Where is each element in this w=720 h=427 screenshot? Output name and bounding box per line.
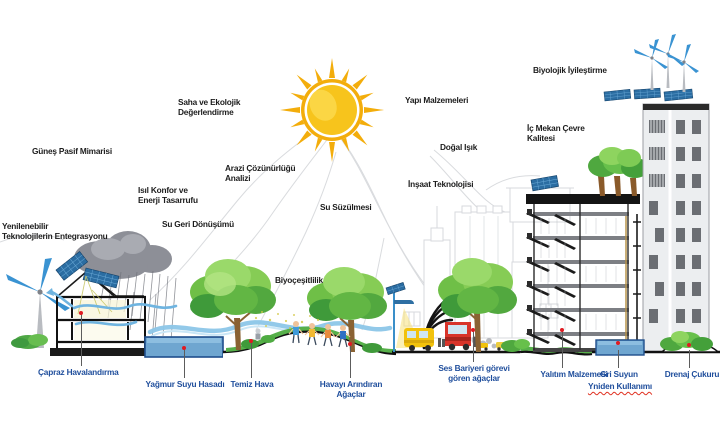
label-su-geri-donusumu: Su Geri Dönüşümü <box>162 220 274 230</box>
marker-gri-suyun <box>616 341 620 345</box>
leader-drenaj-cukuru <box>689 350 690 368</box>
leader-yagmur-suyu-hasadi <box>184 348 185 378</box>
marker-ses-bariyeri <box>471 328 475 332</box>
label-insaat-teknolojisi: İnşaat Teknolojisi <box>408 180 508 190</box>
greywater-tank <box>596 340 644 355</box>
marker-drenaj-cukuru <box>687 343 691 347</box>
label-su-suzulmesi: Su Süzülmesi <box>320 203 402 213</box>
label-havayi-arindiran-agaclar: Havayı Arındıran Ağaçlar <box>300 380 402 399</box>
label-ses-bariyeri-goren-agaclar: Ses Bariyeri görevi gören ağaçlar <box>419 364 529 383</box>
leader-havayi-arindiran-agaclar <box>350 344 351 378</box>
noise-barrier-trees <box>438 258 517 352</box>
building-cross-section-green <box>526 147 649 354</box>
label-yenilenebilir-teknolojilerin-entegrasyonu: Yenilenebilir Teknolojilerin Entegrasyon… <box>2 222 132 241</box>
label-yniden-kullanimi: Yniden Kullanımı <box>580 382 660 392</box>
right-scene <box>0 0 720 427</box>
marker-yagmur-suyu-hasadi <box>182 346 186 350</box>
leader-capraz-havalandirma <box>81 313 82 366</box>
label-isil-konfor-ve-enerji-tasarrufu: Isıl Konfor ve Enerji Tasarrufu <box>138 186 240 205</box>
marker-havayi-arindiran-agaclar <box>348 342 352 346</box>
label-gri-suyun: Gri Suyun <box>588 370 650 380</box>
label-capraz-havalandirma: Çapraz Havalandırma <box>38 368 154 378</box>
infographic-canvas: Biyolojik İyileştirme İç Mekan Çevre Kal… <box>0 0 720 427</box>
marker-capraz-havalandirma <box>79 311 83 315</box>
marker-temiz-hava <box>249 339 253 343</box>
leader-gri-suyun <box>618 350 619 368</box>
leader-ses-bariyeri <box>473 330 474 362</box>
label-ic-mekan-cevre-kalitesi: İç Mekan Çevre Kalitesi <box>527 124 625 143</box>
label-gunes-pasif-mimarisi: Güneş Pasif Mimarisi <box>32 147 158 157</box>
roof-trees <box>588 147 649 196</box>
label-yapi-malzemeleri: Yapı Malzemeleri <box>405 96 509 106</box>
label-drenaj-cukuru: Drenaj Çukuru <box>648 370 720 380</box>
label-biyocesitlilik: Biyoçeşitlilik <box>275 276 349 286</box>
label-dogal-isik: Doğal Işık <box>440 143 506 153</box>
leader-temiz-hava <box>251 341 252 378</box>
roof-solar-panels <box>604 88 693 101</box>
label-biyolojik-iyilestirme: Biyolojik İyileştirme <box>533 66 657 76</box>
label-saha-ve-ekolojik-degerlendirme: Saha ve Ekolojik Değerlendirme <box>178 98 282 117</box>
label-temiz-hava: Temiz Hava <box>213 380 291 390</box>
label-arazi-cozunurlugu-analizi: Arazi Çözünürlüğü Analizi <box>225 164 333 183</box>
leader-yalitim-malzemesi <box>562 330 563 368</box>
marker-yalitim-malzemesi <box>560 328 564 332</box>
roof-wind-turbines <box>634 34 699 92</box>
